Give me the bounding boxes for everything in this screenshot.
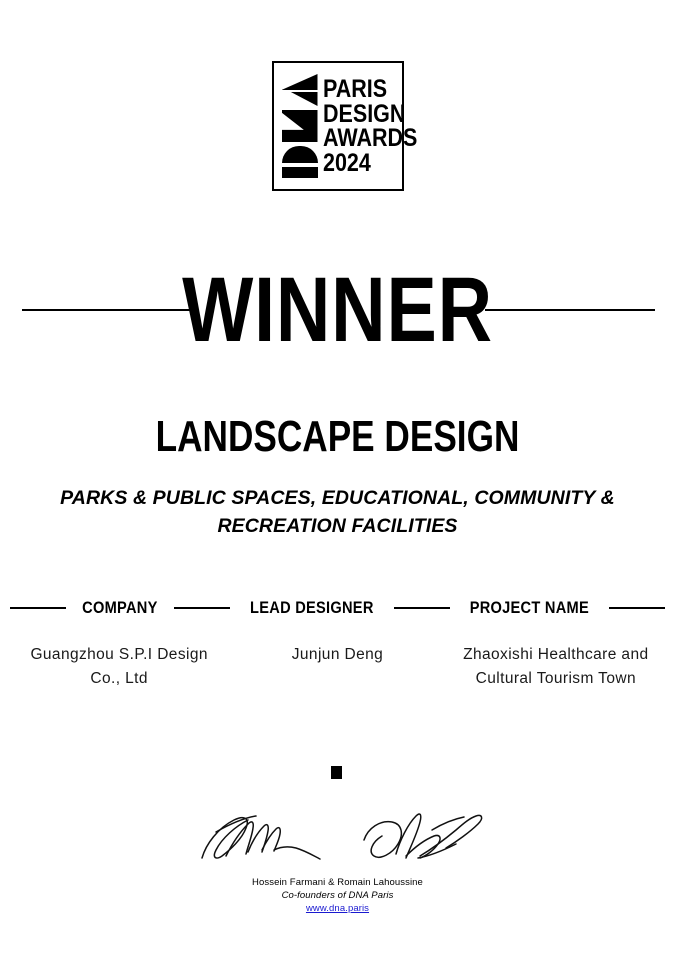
credits-header-row: COMPANY LEAD DESIGNER PROJECT NAME (10, 598, 665, 618)
footer-signatory-names: Hossein Farmani & Romain Lahoussine (0, 876, 675, 889)
column-value-company: Guangzhou S.P.I Design Co., Ltd (10, 643, 228, 691)
column-value-project-name: Zhaoxishi Healthcare and Cultural Touris… (447, 643, 665, 691)
signatures-container (0, 806, 675, 872)
logo-line-paris: PARIS (323, 77, 417, 102)
logo-container: PARIS DESIGN AWARDS 2024 (0, 61, 675, 191)
header-rule-2 (174, 607, 230, 609)
header-rule-1 (10, 607, 66, 609)
paris-design-awards-logo: PARIS DESIGN AWARDS 2024 (272, 61, 404, 191)
header-rule-3 (394, 607, 450, 609)
dna-glyph-a-icon (282, 146, 318, 178)
credits-value-row: Guangzhou S.P.I Design Co., Ltd Junjun D… (10, 643, 665, 691)
footer-signatory-role: Co-founders of DNA Paris (0, 889, 675, 902)
column-header-company: COMPANY (74, 598, 167, 618)
winner-banner: WINNER (0, 262, 675, 362)
square-divider (331, 766, 342, 779)
footer-website-link[interactable]: www.dna.paris (0, 902, 675, 915)
award-subcategory: PARKS & PUBLIC SPACES, EDUCATIONAL, COMM… (18, 484, 657, 540)
logo-line-year: 2024 (323, 151, 417, 176)
logo-line-design: DESIGN (323, 102, 417, 127)
winner-title: WINNER (61, 262, 615, 358)
certificate-page: PARIS DESIGN AWARDS 2024 WINNER LANDSCAP… (0, 0, 675, 953)
footer: Hossein Farmani & Romain Lahoussine Co-f… (0, 876, 675, 915)
award-category: LANDSCAPE DESIGN (68, 412, 608, 462)
dna-glyph-d-icon (282, 74, 318, 106)
dna-monogram-icon (282, 74, 318, 178)
logo-line-awards: AWARDS (323, 126, 417, 151)
dna-glyph-n-icon (282, 110, 318, 142)
header-rule-4 (609, 607, 665, 609)
signature-romain-lahoussine (360, 806, 488, 868)
column-value-lead-designer: Junjun Deng (228, 643, 446, 691)
logo-wordmark: PARIS DESIGN AWARDS 2024 (323, 77, 433, 175)
signature-hossein-farmani (196, 806, 324, 868)
column-header-project-name: PROJECT NAME (461, 598, 597, 618)
column-header-lead-designer: LEAD DESIGNER (242, 598, 383, 618)
